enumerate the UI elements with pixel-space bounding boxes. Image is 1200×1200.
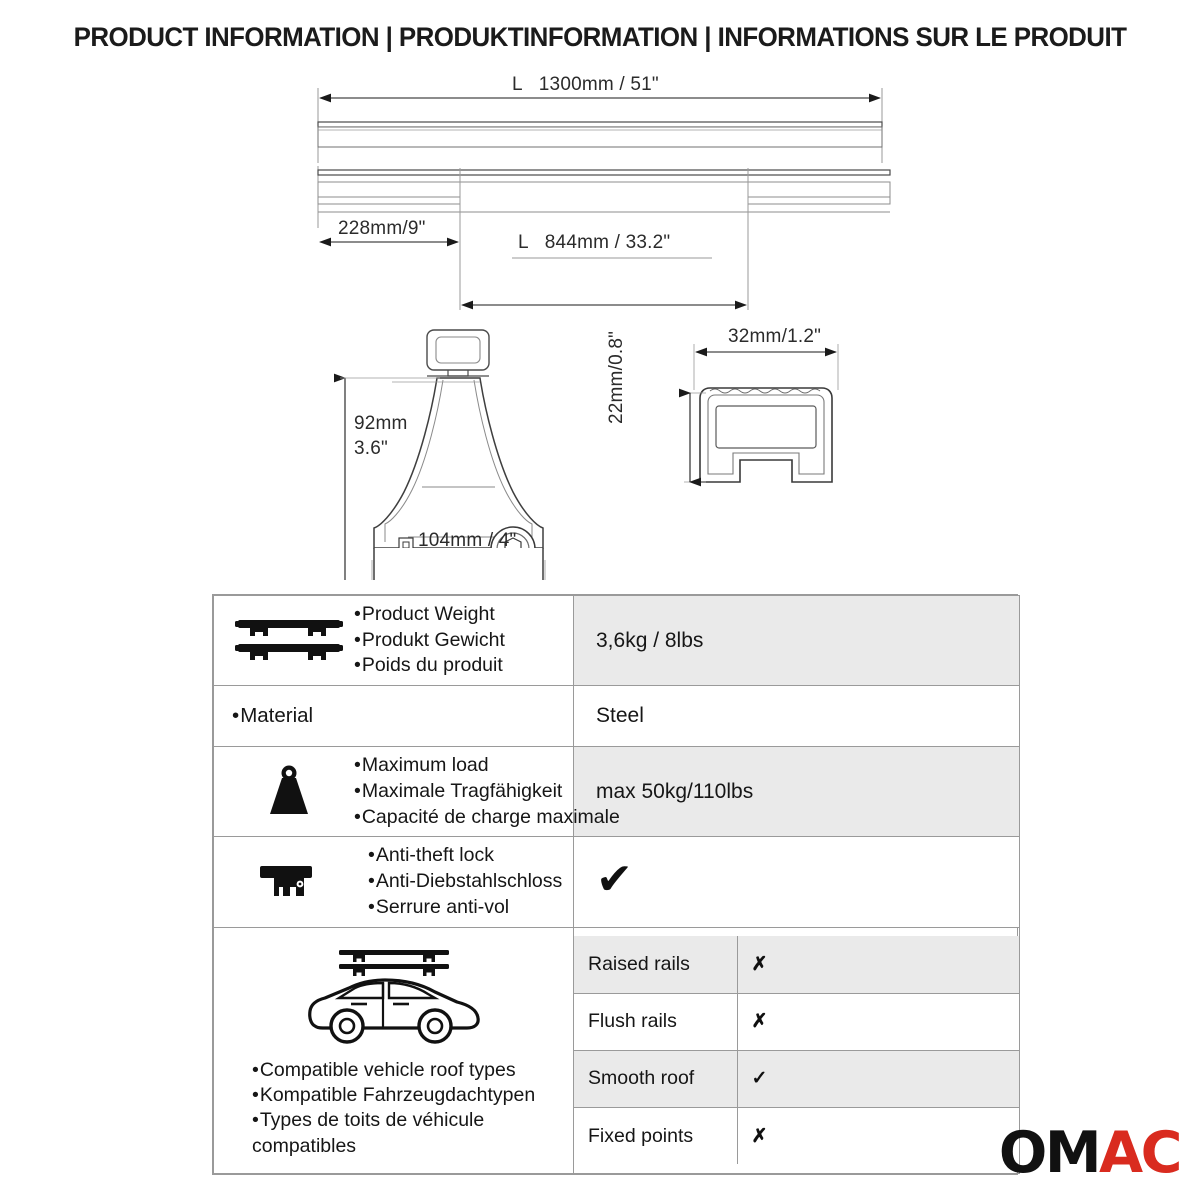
- page-title: PRODUCT INFORMATION | PRODUKTINFORMATION…: [24, 22, 1176, 53]
- spec-label-line: Product Weight: [354, 602, 569, 628]
- dimension-profile-width: 32mm/1.2": [728, 326, 821, 348]
- lock-icon: [224, 858, 354, 906]
- spec-label-lines: Anti-theft lock Anti-Diebstahlschloss Se…: [354, 843, 569, 920]
- car-with-rack-icon: [224, 940, 567, 1048]
- spec-label-line: Types de toits de véhicule: [252, 1108, 567, 1133]
- table-row: Compatible vehicle roof types Kompatible…: [214, 927, 1020, 1173]
- table-row: Maximum load Maximale Tragfähigkeit Capa…: [214, 747, 1020, 837]
- dimension-foot-height: 92mm 3.6": [354, 412, 408, 461]
- list-item: Fixed points ✗: [574, 1107, 1019, 1164]
- dimension-profile-height: 22mm/0.8": [606, 331, 628, 424]
- spec-value-cell-anti-theft-lock: ✔: [574, 837, 1020, 927]
- roof-type-name: Raised rails: [574, 936, 737, 993]
- spec-value: 3,6kg / 8lbs: [574, 619, 1019, 663]
- spec-label-line: Poids du produit: [354, 653, 569, 679]
- roof-type-name: Fixed points: [574, 1107, 737, 1164]
- list-item: Smooth roof ✓: [574, 1050, 1019, 1107]
- list-item: Flush rails ✗: [574, 993, 1019, 1050]
- spec-value: Steel: [574, 694, 1019, 738]
- dimension-value-line2: 3.6": [354, 437, 408, 462]
- roof-types-subtable: Raised rails ✗ Flush rails ✗ Smooth roof…: [574, 936, 1019, 1164]
- drawing-svg: [0, 60, 1200, 580]
- dimension-value-line1: 92mm: [354, 412, 408, 437]
- table-row: Material Steel: [214, 686, 1020, 747]
- spec-label-line: Anti-Diebstahlschloss: [368, 869, 569, 895]
- roof-types-subtable-cell: Raised rails ✗ Flush rails ✗ Smooth roof…: [574, 927, 1020, 1173]
- dimension-foot-width: 104mm / 4": [418, 530, 517, 552]
- spec-label-line: compatibles: [252, 1134, 567, 1159]
- spec-label-lines: Maximum load Maximale Tragfähigkeit Capa…: [354, 753, 620, 830]
- logo-text-dark: OM: [999, 1120, 1099, 1186]
- spec-value: max 50kg/110lbs: [574, 770, 1019, 814]
- spec-label-line: Compatible vehicle roof types: [252, 1058, 567, 1083]
- roof-type-mark: ✗: [737, 936, 1019, 993]
- dimension-overall-length: L1300mm / 51": [512, 74, 659, 96]
- specification-table: Product Weight Produkt Gewicht Poids du …: [212, 594, 1018, 1175]
- spec-label-cell-material: Material: [214, 686, 574, 747]
- spec-label-line: Kompatible Fahrzeugdachtypen: [252, 1083, 567, 1108]
- spec-label-line: Capacité de charge maximale: [354, 805, 620, 831]
- roof-type-name: Flush rails: [574, 993, 737, 1050]
- status-badge-check: ✔: [574, 852, 1019, 912]
- list-item: Raised rails ✗: [574, 936, 1019, 993]
- spec-label-cell-maximum-load: Maximum load Maximale Tragfähigkeit Capa…: [214, 747, 574, 837]
- spec-value-cell-material: Steel: [574, 686, 1020, 747]
- spec-label-line: Maximum load: [354, 753, 620, 779]
- technical-drawing: L1300mm / 51" 228mm/9" L844mm / 33.2" 92…: [0, 60, 1200, 580]
- omac-logo: OMAC: [999, 1125, 1180, 1182]
- spec-label-cell-anti-theft-lock: Anti-theft lock Anti-Diebstahlschloss Se…: [214, 837, 574, 927]
- spec-label-cell-roof-types: Compatible vehicle roof types Kompatible…: [214, 927, 574, 1173]
- spec-label-line: Material: [214, 686, 573, 746]
- spec-label-line: Produkt Gewicht: [354, 628, 569, 654]
- spec-label-line: Serrure anti-vol: [368, 895, 569, 921]
- spec-label-lines: Compatible vehicle roof types Kompatible…: [224, 1058, 567, 1159]
- spec-value-cell-product-weight: 3,6kg / 8lbs: [574, 596, 1020, 686]
- dimension-prefix: L: [518, 232, 529, 253]
- weight-icon: [224, 764, 354, 820]
- roof-type-name: Smooth roof: [574, 1050, 737, 1107]
- roof-type-mark: ✗: [737, 1107, 1019, 1164]
- crossbars-icon: [224, 616, 354, 666]
- dimension-value: 1300mm / 51": [539, 74, 659, 95]
- dimension-end-offset: 228mm/9": [338, 218, 426, 240]
- spec-label-line: Maximale Tragfähigkeit: [354, 779, 620, 805]
- table-row: Anti-theft lock Anti-Diebstahlschloss Se…: [214, 837, 1020, 927]
- table-row: Product Weight Produkt Gewicht Poids du …: [214, 596, 1020, 686]
- spec-label-lines: Product Weight Produkt Gewicht Poids du …: [354, 602, 569, 679]
- dimension-span-length: L844mm / 33.2": [518, 232, 670, 254]
- dimension-prefix: L: [512, 74, 523, 95]
- spec-label-cell-product-weight: Product Weight Produkt Gewicht Poids du …: [214, 596, 574, 686]
- roof-type-mark: ✗: [737, 993, 1019, 1050]
- roof-type-mark: ✓: [737, 1050, 1019, 1107]
- dimension-value: 844mm / 33.2": [545, 232, 671, 253]
- logo-text-accent: AC: [1099, 1120, 1180, 1186]
- spec-value-cell-maximum-load: max 50kg/110lbs: [574, 747, 1020, 837]
- spec-label-line: Anti-theft lock: [368, 843, 569, 869]
